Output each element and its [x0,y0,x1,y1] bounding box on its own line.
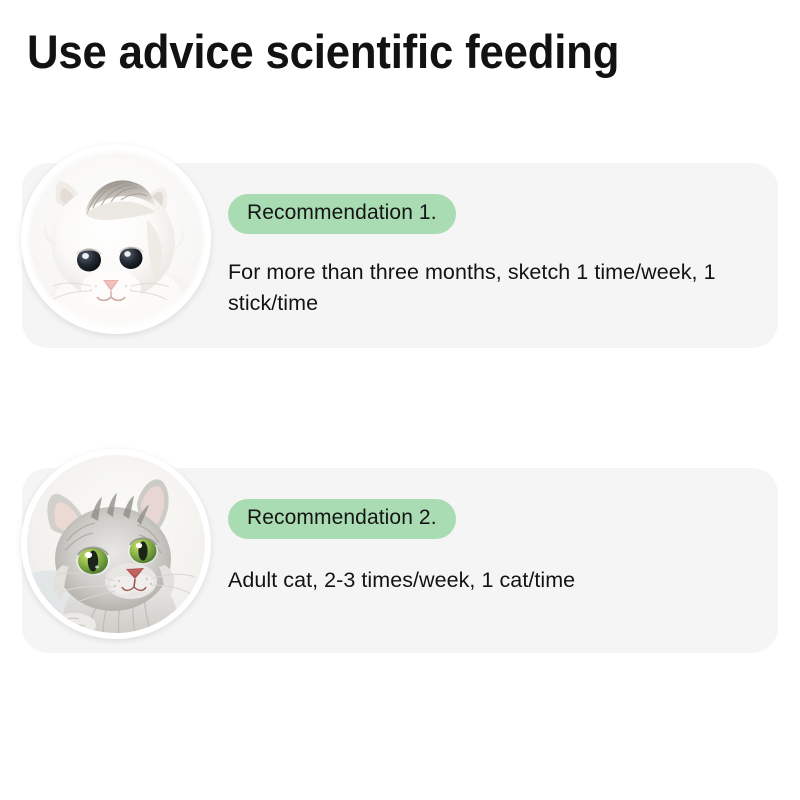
recommendation-card-1: Recommendation 1. For more than three mo… [22,163,778,348]
recommendation-card-2: Recommendation 2. Adult cat, 2-3 times/w… [22,468,778,653]
recommendation-1-body: For more than three months, sketch 1 tim… [228,257,762,319]
card-1-text-column: Recommendation 1. For more than three mo… [228,163,762,319]
grey-tabby-cat-photo-frame [21,449,211,639]
page-title: Use advice scientific feeding [27,22,619,82]
white-kitten-photo [27,150,205,328]
white-kitten-photo-frame [21,144,211,334]
card-2-text-column: Recommendation 2. Adult cat, 2-3 times/w… [228,468,762,596]
recommendation-2-body: Adult cat, 2-3 times/week, 1 cat/time [228,565,762,596]
recommendation-2-badge: Recommendation 2. [228,499,456,539]
grey-tabby-cat-photo [27,455,205,633]
recommendation-1-badge: Recommendation 1. [228,194,456,234]
